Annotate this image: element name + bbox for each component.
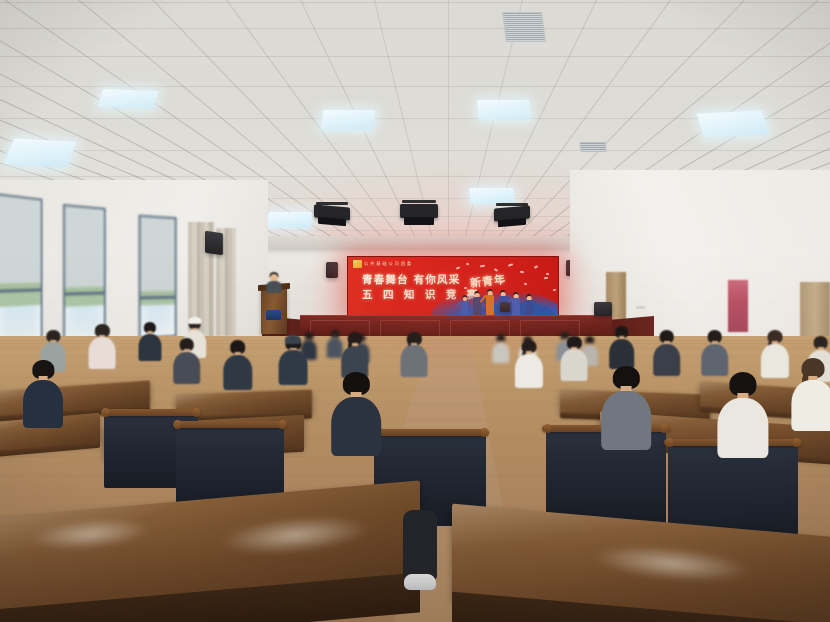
illustrated-performer — [524, 294, 534, 315]
attendee — [560, 336, 589, 381]
ceiling-light-icon — [321, 110, 376, 130]
confetti-piece — [480, 265, 485, 268]
window — [63, 204, 106, 344]
confetti-piece — [534, 265, 538, 269]
attendee — [330, 372, 383, 456]
confetti-piece — [520, 271, 524, 274]
attendee-torso — [401, 345, 428, 377]
attendee-torso — [515, 354, 543, 387]
ceiling-grid-line — [0, 2, 830, 3]
attendee — [652, 330, 681, 376]
attendee-torso — [609, 339, 635, 369]
attendee-torso — [561, 349, 588, 381]
attendee-torso — [279, 350, 308, 384]
ceiling-light-icon — [477, 100, 531, 120]
ceiling-light-icon — [3, 138, 76, 167]
window — [139, 215, 177, 340]
confetti-piece — [466, 263, 469, 266]
attendee-torso — [139, 334, 162, 361]
attendee — [492, 334, 510, 363]
attendee — [790, 358, 830, 431]
performer-torso — [525, 300, 533, 315]
stage-light-icon — [492, 203, 532, 229]
speaker-icon — [205, 231, 223, 256]
attendee — [514, 340, 544, 388]
speaker-at-podium — [266, 272, 281, 292]
attendee — [88, 324, 117, 369]
attendee-torso — [602, 391, 652, 450]
air-vent-icon — [579, 142, 606, 152]
stage-equipment — [500, 302, 510, 312]
podium — [261, 288, 287, 334]
brand-mark-icon — [353, 260, 362, 268]
attendee-cap — [285, 335, 301, 344]
stage-light-icon — [398, 200, 440, 228]
ceiling-light-icon — [267, 212, 313, 228]
attendee-torso — [223, 355, 252, 390]
attendee-torso — [173, 352, 201, 385]
attendee — [400, 332, 429, 377]
attendee-torso — [791, 380, 830, 431]
led-title-line1: 青春舞台 有你风采 — [362, 273, 481, 288]
attendee-torso — [653, 344, 681, 377]
window — [0, 193, 43, 349]
illustrated-performer — [485, 289, 495, 315]
attendee-leg-foreground — [400, 510, 440, 606]
led-brand-logo: 公 共 基 础 公 司 团 委 — [353, 260, 411, 268]
attendee-torso — [718, 398, 769, 459]
performer-torso — [486, 295, 494, 315]
led-brand-text: 公 共 基 础 公 司 团 委 — [364, 261, 411, 267]
attendee — [222, 340, 253, 390]
attendee — [716, 372, 770, 458]
attendee-cap — [188, 317, 201, 324]
stage-monitor-speaker-icon — [594, 302, 612, 316]
podium-emblem — [266, 310, 281, 320]
led-display-screen: 公 共 基 础 公 司 团 委 青春舞台 有你风采 五 四 知 识 竞 赛 新青… — [347, 256, 559, 318]
illustrated-performer — [511, 292, 521, 315]
confetti-piece — [456, 266, 460, 269]
attendee — [278, 336, 309, 385]
air-vent-icon — [502, 12, 546, 42]
ceiling-grid-line — [0, 56, 830, 57]
ceiling-grid-line — [0, 150, 830, 151]
attendee-torso — [493, 343, 510, 364]
confetti-piece — [546, 273, 549, 276]
ceiling-grid-line — [0, 28, 830, 29]
attendee-torso — [23, 380, 63, 428]
ceiling-grid-line — [448, 0, 449, 258]
performer-torso — [512, 298, 520, 315]
confetti-piece — [544, 277, 548, 280]
speaker-icon — [326, 262, 338, 278]
attendee — [600, 366, 653, 450]
attendee — [608, 326, 635, 369]
wall-banner — [726, 278, 750, 334]
ceiling-light-icon — [697, 110, 770, 137]
confetti-piece — [553, 289, 556, 291]
illustrated-performer — [460, 295, 469, 315]
attendee — [760, 330, 790, 378]
ceiling-light-icon — [97, 89, 158, 109]
performer-torso — [461, 301, 468, 315]
ceiling-light-icon — [469, 188, 514, 204]
conference-hall-photo: 公 共 基 础 公 司 团 委 青春舞台 有你风采 五 四 知 识 竞 赛 新青… — [0, 0, 830, 622]
attendee — [172, 338, 201, 384]
illustrated-performer — [472, 291, 482, 315]
door-handle-icon[interactable] — [636, 306, 645, 309]
confetti-piece — [508, 263, 513, 266]
attendee — [22, 360, 65, 428]
confetti-piece — [524, 283, 528, 286]
stage-light-icon — [312, 202, 352, 228]
ceiling-grid-line — [0, 86, 830, 87]
attendee-torso — [332, 397, 382, 456]
attendee-torso — [89, 337, 116, 369]
attendee — [700, 330, 729, 376]
attendee — [138, 322, 162, 361]
confetti-piece — [464, 287, 467, 289]
